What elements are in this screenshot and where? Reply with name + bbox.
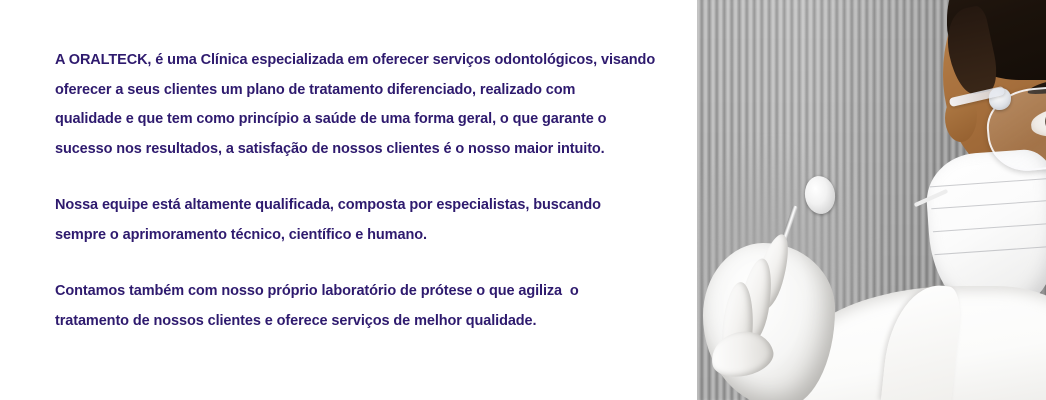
text-line: tratamento de nossos clientes e oferece … <box>55 313 536 329</box>
text-line: oferecer a seus clientes um plano de tra… <box>55 82 575 98</box>
text-line: Contamos também com nosso próprio labora… <box>55 283 579 299</box>
text-content-area: A ORALTECK, é uma Clínica especializada … <box>0 0 697 400</box>
text-line: Nossa equipe está altamente qualificada,… <box>55 197 601 213</box>
text-line: sempre o aprimoramento técnico, científi… <box>55 227 427 243</box>
mask-pleat <box>930 178 1046 187</box>
text-line: qualidade e que tem como princípio a saú… <box>55 111 606 127</box>
paragraph-lab: Contamos também com nosso próprio labora… <box>55 277 655 336</box>
mask-pleat <box>933 223 1046 232</box>
about-clinic-text: A ORALTECK, é uma Clínica especializada … <box>55 46 655 336</box>
text-line: A ORALTECK, é uma Clínica especializada … <box>55 52 655 68</box>
dentist-photo <box>697 0 1046 400</box>
mask-pleat <box>934 246 1046 255</box>
promo-banner: A ORALTECK, é uma Clínica especializada … <box>0 0 1046 400</box>
text-line: sucesso nos resultados, a satisfação de … <box>55 141 605 157</box>
paragraph-intro: A ORALTECK, é uma Clínica especializada … <box>55 46 655 164</box>
paragraph-team: Nossa equipe está altamente qualificada,… <box>55 191 655 250</box>
mask-pleat <box>931 200 1046 209</box>
